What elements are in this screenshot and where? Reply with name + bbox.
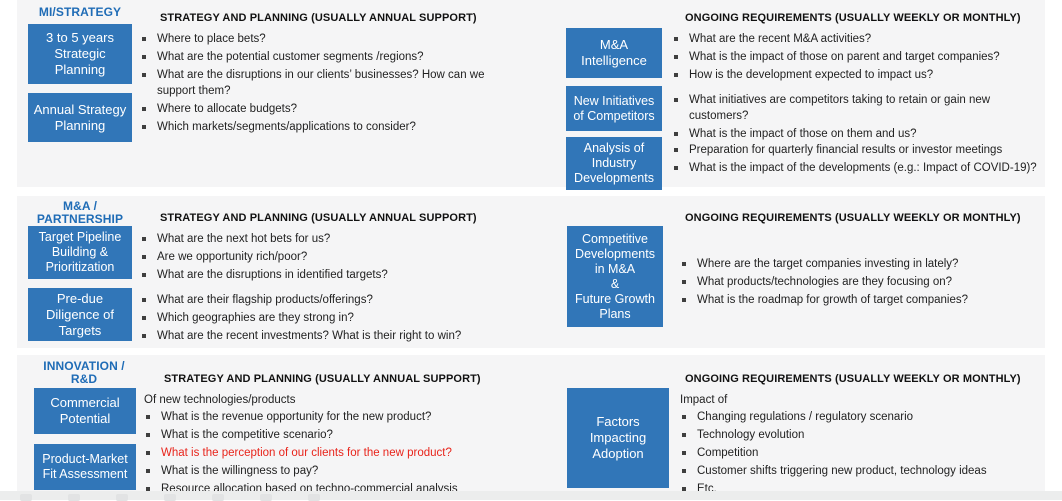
bullet-group-row3-right: Impact of Changing regulations / regulat… — [680, 392, 1050, 499]
list-item: Preparation for quarterly financial resu… — [672, 142, 1042, 158]
bullet-group-row2-left-1: What are the next hot bets for us? Are w… — [140, 231, 485, 285]
bullet-group-row1-right-2: What initiatives are competitors taking … — [672, 92, 1002, 144]
list-item: What are the next hot bets for us? — [140, 231, 485, 247]
heading-strategy-planning-row1: STRATEGY AND PLANNING (USUALLY ANNUAL SU… — [160, 12, 477, 24]
list-item: What are the potential customer segments… — [140, 49, 485, 65]
slide-canvas: MI/STRATEGY 3 to 5 years Strategic Plann… — [0, 0, 1062, 500]
bullet-group-intro-row3-right: Impact of — [680, 392, 1050, 408]
bullet-group-row1-right-1: What are the recent M&A activities? What… — [672, 31, 1042, 85]
list-item: What is the impact of those on parent an… — [672, 49, 1042, 65]
bullet-group-row2-right-1: Where are the target companies investing… — [680, 256, 1050, 310]
category-label-ma-partnership: M&A / PARTNERSHIP — [24, 200, 136, 226]
heading-strategy-planning-row2: STRATEGY AND PLANNING (USUALLY ANNUAL SU… — [160, 212, 477, 224]
bottom-strip — [0, 491, 1062, 500]
list-item: What are the recent M&A activities? — [672, 31, 1042, 47]
list-item: Where to place bets? — [140, 31, 485, 47]
list-item: What is the impact of the developments (… — [672, 160, 1042, 176]
heading-ongoing-requirements-row2: ONGOING REQUIREMENTS (USUALLY WEEKLY OR … — [685, 212, 1021, 224]
bullet-group-row2-left-2: What are their flagship products/offerin… — [140, 292, 485, 346]
list-item: What is the willingness to pay? — [144, 463, 489, 479]
box-product-market-fit-assessment[interactable]: Product-Market Fit Assessment — [34, 444, 136, 490]
list-item: Customer shifts triggering new product, … — [680, 463, 1050, 479]
box-pre-due-diligence-of-targets[interactable]: Pre-due Diligence of Targets — [28, 288, 132, 341]
heading-ongoing-requirements-row3: ONGOING REQUIREMENTS (USUALLY WEEKLY OR … — [685, 373, 1021, 385]
bullet-group-intro-row3-left: Of new technologies/products — [144, 392, 489, 408]
category-label-innovation-rd: INNOVATION / R&D — [24, 360, 144, 386]
bullet-group-row1-left-2: Where to allocate budgets? Which markets… — [140, 101, 485, 137]
box-factors-impacting-adoption[interactable]: Factors Impacting Adoption — [567, 388, 669, 488]
list-item: What are the disruptions in identified t… — [140, 267, 485, 283]
heading-strategy-planning-row3: STRATEGY AND PLANNING (USUALLY ANNUAL SU… — [164, 373, 481, 385]
list-item: Technology evolution — [680, 427, 1050, 443]
list-item-highlighted: What is the perception of our clients fo… — [144, 445, 489, 461]
box-annual-strategy-planning[interactable]: Annual Strategy Planning — [28, 93, 132, 142]
list-item: Where to allocate budgets? — [140, 101, 485, 117]
category-label-mi-strategy: MI/STRATEGY — [24, 6, 136, 19]
list-item: Changing regulations / regulatory scenar… — [680, 409, 1050, 425]
box-ma-intelligence[interactable]: M&A Intelligence — [566, 28, 662, 78]
list-item: What are the recent investments? What is… — [140, 328, 485, 344]
list-item: What products/technologies are they focu… — [680, 274, 1050, 290]
list-item: Competition — [680, 445, 1050, 461]
box-analysis-of-industry-developments[interactable]: Analysis of Industry Developments — [566, 137, 662, 190]
list-item: How is the development expected to impac… — [672, 67, 1042, 83]
list-item: Where are the target companies investing… — [680, 256, 1050, 272]
list-item: What are the disruptions in our clients’… — [140, 67, 485, 99]
list-item: Which markets/segments/applications to c… — [140, 119, 485, 135]
box-3-to-5-years-strategic-planning[interactable]: 3 to 5 years Strategic Planning — [28, 24, 132, 84]
list-item: Which geographies are they strong in? — [140, 310, 485, 326]
list-item: What is the revenue opportunity for the … — [144, 409, 489, 425]
box-competitive-developments-in-ma-future-growth-plans[interactable]: Competitive Developments in M&A & Future… — [567, 226, 663, 327]
list-item: What is the impact of those on them and … — [672, 126, 1002, 142]
list-item: What is the roadmap for growth of target… — [680, 292, 1050, 308]
bullet-group-row1-right-3: Preparation for quarterly financial resu… — [672, 142, 1042, 178]
list-item: What initiatives are competitors taking … — [672, 92, 1002, 124]
box-commercial-potential[interactable]: Commercial Potential — [34, 388, 136, 434]
heading-ongoing-requirements-row1: ONGOING REQUIREMENTS (USUALLY WEEKLY OR … — [685, 12, 1021, 24]
bullet-group-row1-left-1: Where to place bets? What are the potent… — [140, 31, 485, 101]
box-new-initiatives-of-competitors[interactable]: New Initiatives of Competitors — [566, 86, 662, 131]
list-item: What are their flagship products/offerin… — [140, 292, 485, 308]
box-target-pipeline-building-prioritization[interactable]: Target Pipeline Building & Prioritizatio… — [28, 226, 132, 279]
list-item: Are we opportunity rich/poor? — [140, 249, 485, 265]
bullet-group-row3-left: Of new technologies/products What is the… — [144, 392, 489, 499]
list-item: What is the competitive scenario? — [144, 427, 489, 443]
